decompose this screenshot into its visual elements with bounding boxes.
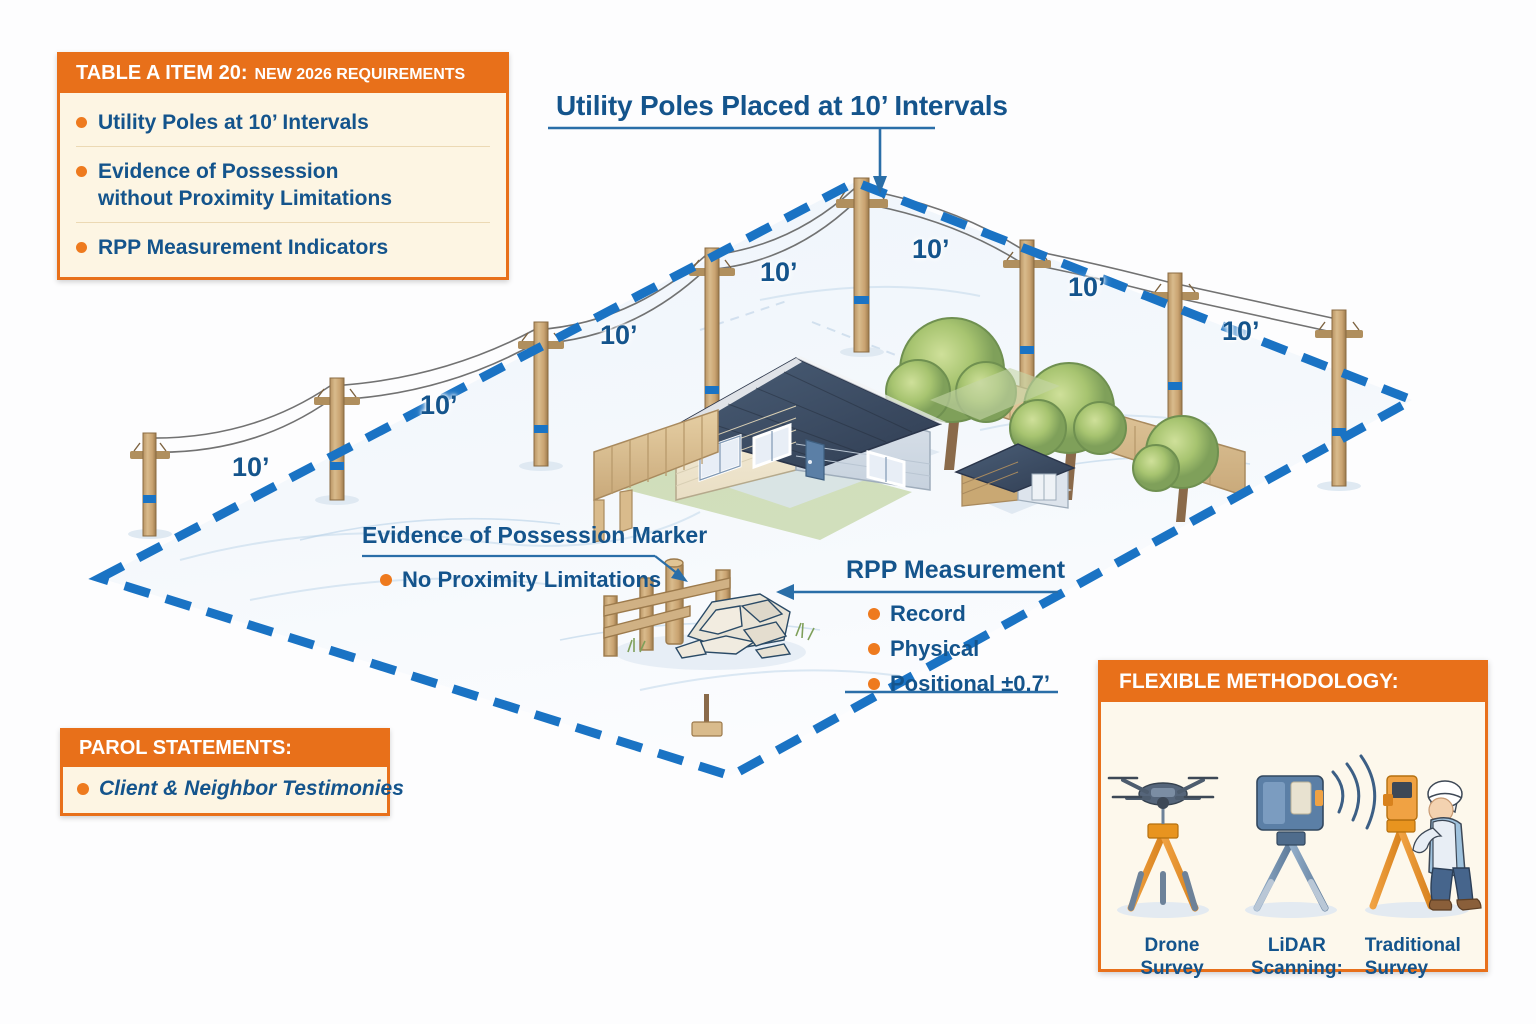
rpp-callout-item[interactable]: Record bbox=[868, 601, 1065, 627]
evidence-callout-item-label: No Proximity Limitations bbox=[402, 567, 661, 593]
rpp-callout-title: RPP Measurement bbox=[846, 556, 1065, 585]
infographic-canvas: 10’ 10’ 10’ 10’ 10’ 10’ 10’ Utility Pole… bbox=[0, 0, 1536, 1024]
dimension-label: 10’ bbox=[1222, 316, 1260, 347]
methodology-label-drone: Drone Survey bbox=[1115, 934, 1229, 980]
list-item[interactable]: Utility Poles at 10’ Intervals bbox=[76, 103, 490, 146]
bullet-icon bbox=[380, 574, 392, 586]
parol-item-label: Client & Neighbor Testimonies bbox=[99, 777, 404, 801]
parol-statements-card: PAROL STATEMENTS: Client & Neighbor Test… bbox=[60, 728, 390, 816]
bullet-icon bbox=[868, 643, 880, 655]
rpp-measurement-callout: RPP Measurement Record Physical Position… bbox=[846, 556, 1065, 697]
rpp-callout-item-label: Positional ±0.7’ bbox=[890, 671, 1050, 697]
requirements-card-title-rest: NEW 2026 REQUIREMENTS bbox=[254, 66, 465, 84]
bullet-icon bbox=[77, 783, 89, 795]
requirement-label: Utility Poles at 10’ Intervals bbox=[98, 109, 369, 136]
methodology-panel-title: FLEXIBLE METHODOLOGY: bbox=[1119, 670, 1399, 693]
requirements-card-title-bold: TABLE A ITEM 20: bbox=[76, 62, 247, 85]
rpp-callout-item[interactable]: Physical bbox=[868, 636, 1065, 662]
methodology-panel: FLEXIBLE METHODOLOGY: bbox=[1098, 660, 1488, 972]
page-title: Utility Poles Placed at 10’ Intervals bbox=[556, 90, 1008, 122]
bullet-icon bbox=[868, 678, 880, 690]
dimension-label: 10’ bbox=[912, 234, 950, 265]
dimension-label: 10’ bbox=[232, 452, 270, 483]
methodology-panel-header: FLEXIBLE METHODOLOGY: bbox=[1101, 663, 1485, 702]
dimension-label: 10’ bbox=[760, 257, 798, 288]
total-station-surveyor-icon bbox=[1365, 776, 1481, 918]
requirements-card: TABLE A ITEM 20: NEW 2026 REQUIREMENTS U… bbox=[57, 52, 509, 280]
drone-icon bbox=[1109, 778, 1217, 918]
list-item[interactable]: RPP Measurement Indicators bbox=[76, 222, 490, 265]
bullet-icon bbox=[868, 608, 880, 620]
evidence-callout-item[interactable]: No Proximity Limitations bbox=[380, 567, 707, 593]
dimension-label: 10’ bbox=[600, 320, 638, 351]
methodology-labels: Drone Survey LiDAR Scanning: Traditional… bbox=[1101, 934, 1485, 980]
requirements-card-header: TABLE A ITEM 20: NEW 2026 REQUIREMENTS bbox=[60, 55, 506, 93]
rpp-callout-item-label: Physical bbox=[890, 636, 979, 662]
parol-card-title: PAROL STATEMENTS: bbox=[79, 737, 292, 760]
methodology-label-lidar: LiDAR Scanning: bbox=[1235, 934, 1359, 980]
title-leader-arrow bbox=[548, 128, 935, 194]
evidence-callout-title: Evidence of Possession Marker bbox=[362, 522, 707, 549]
list-item[interactable]: Client & Neighbor Testimonies bbox=[77, 777, 373, 801]
bullet-icon bbox=[76, 166, 87, 177]
bullet-icon bbox=[76, 117, 87, 128]
parol-card-body: Client & Neighbor Testimonies bbox=[63, 767, 387, 813]
requirement-label: RPP Measurement Indicators bbox=[98, 234, 388, 261]
list-item[interactable]: Evidence of Possession without Proximity… bbox=[76, 146, 490, 222]
requirement-label: Evidence of Possession without Proximity… bbox=[98, 158, 392, 212]
requirements-card-body: Utility Poles at 10’ Intervals Evidence … bbox=[60, 93, 506, 277]
rpp-callout-item[interactable]: Positional ±0.7’ bbox=[868, 671, 1065, 697]
methodology-label-traditional: Traditional Survey bbox=[1365, 934, 1471, 980]
parol-card-header: PAROL STATEMENTS: bbox=[63, 731, 387, 767]
evidence-of-possession-callout: Evidence of Possession Marker No Proximi… bbox=[362, 522, 707, 593]
lidar-scanner-icon bbox=[1245, 756, 1375, 918]
bullet-icon bbox=[76, 242, 87, 253]
dimension-label: 10’ bbox=[1068, 272, 1106, 303]
rpp-callout-item-label: Record bbox=[890, 601, 966, 627]
dimension-label: 10’ bbox=[420, 390, 458, 421]
methodology-illustrations bbox=[1101, 702, 1485, 934]
